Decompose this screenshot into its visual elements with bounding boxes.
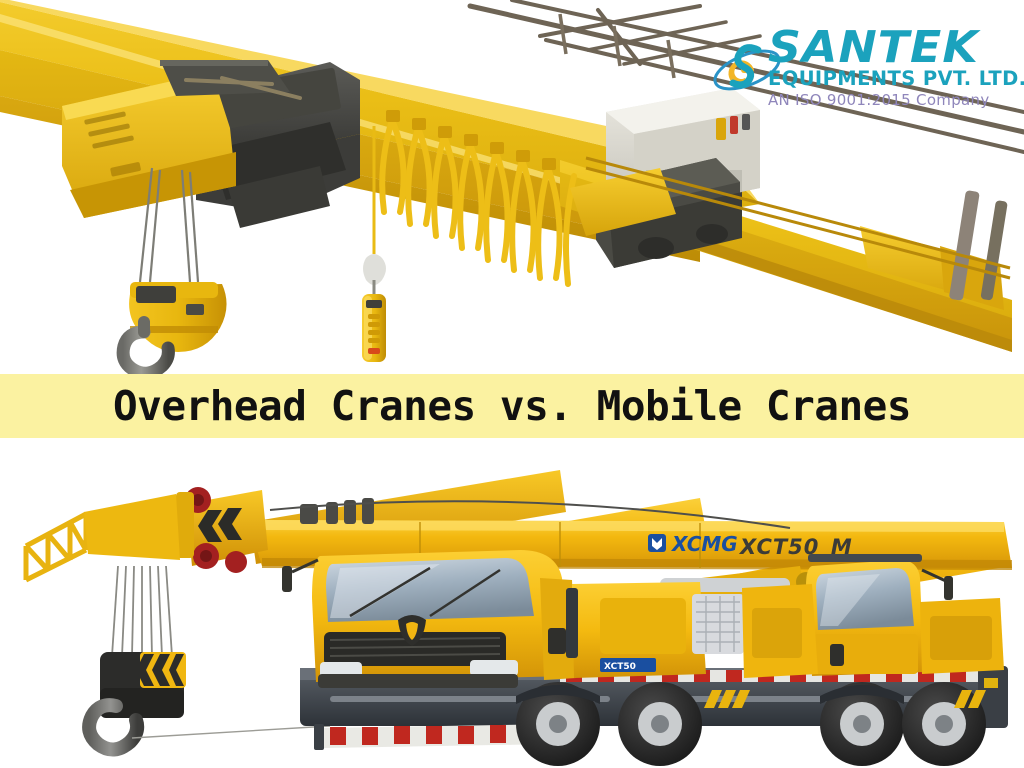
svg-text:XCT50: XCT50: [604, 662, 636, 672]
wheel: [902, 682, 986, 766]
company-logo: SANTEK EQUIPMENTS PVT. LTD. AN ISO 9001:…: [706, 26, 1006, 126]
logo-text-block: SANTEK EQUIPMENTS PVT. LTD. AN ISO 9001:…: [768, 26, 1008, 110]
mobile-crane-illustration: XCMG XCT50_M XCMG GROUP: [0, 438, 1024, 768]
mobile-crane-image: XCMG XCT50_M XCMG GROUP: [0, 438, 1024, 768]
logo-certification: AN ISO 9001:2015 Company: [768, 91, 1008, 110]
page-title: Overhead Cranes vs. Mobile Cranes: [113, 384, 911, 428]
title-banner: Overhead Cranes vs. Mobile Cranes: [0, 374, 1024, 438]
wheel: [618, 682, 702, 766]
slide-canvas: Overhead Cranes vs. Mobile Cranes: [0, 0, 1024, 768]
pendant-control: [362, 294, 386, 362]
driver-cab: [282, 550, 576, 688]
logo-brand-name: SANTEK: [768, 26, 1018, 70]
boom-brand-text: XCMG: [670, 532, 738, 556]
